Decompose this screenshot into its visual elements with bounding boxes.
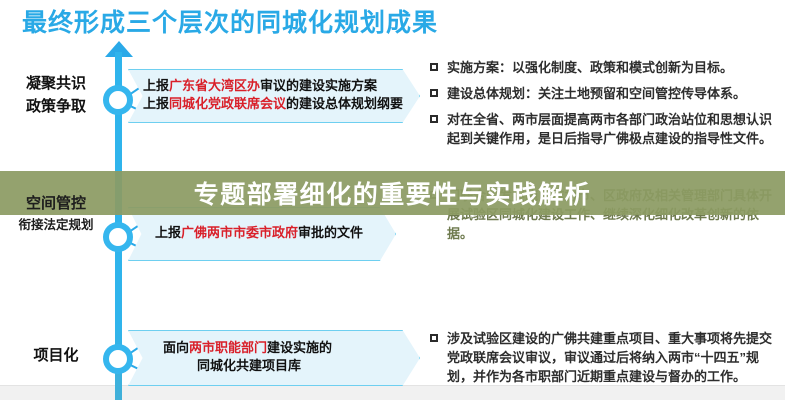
bullet-item: 对在全省、两市层面提高两市各部门政治站位和思想认识起到关键作用，是日后指导广佛极… (430, 110, 782, 148)
plain-phrase: 同城化共建项目库 (197, 358, 301, 373)
tier-3-content-box[interactable]: 面向两市职能部门建设实施的 同城化共建项目库 (128, 330, 420, 386)
highlighted-phrase: 两市职能部门 (189, 340, 267, 355)
bullet-text: 实施方案：以强化制度、政策和模式创新为目标。 (447, 58, 733, 77)
tier-1-box-line-1: 上报广东省大湾区办审议的建设实施方案 (143, 77, 419, 95)
plain-phrase: 上报 (143, 96, 169, 111)
square-bullet-icon (430, 115, 438, 123)
plain-phrase: 的建设总体规划纲要 (286, 96, 403, 111)
highlighted-phrase: 广东省大湾区办 (169, 78, 260, 93)
plain-phrase: 建设实施的 (267, 340, 332, 355)
slide-canvas: 最终形成三个层次的同城化规划成果 凝聚共识 政策争取 上报广东省大湾区办审议的建… (0, 0, 785, 400)
plain-phrase: 上报 (155, 225, 181, 240)
tier-3-box-line-1: 面向两市职能部门建设实施的 (163, 339, 419, 357)
highlighted-phrase: 同城化党政联席会议 (169, 96, 286, 111)
tier-2-content-box[interactable]: 上报广佛两市市委市政府审批的文件 (128, 207, 396, 261)
square-bullet-icon (430, 63, 438, 71)
plain-phrase: 面向 (163, 340, 189, 355)
overlay-banner-text: 专题部署细化的重要性与实践解析 (0, 171, 785, 215)
tier-label-1: 凝聚共识 政策争取 (0, 72, 112, 118)
tier-label-3: 项目化 (0, 344, 112, 367)
tier-3-box-line-2: 同城化共建项目库 (163, 357, 419, 375)
bullet-item: 涉及试验区建设的广佛共建重点项目、重大事项将先提交党政联席会议审议，审议通过后将… (430, 329, 782, 386)
plain-phrase: 审批的文件 (298, 225, 363, 240)
tier-1-content-box[interactable]: 上报广东省大湾区办审议的建设实施方案 上报同城化党政联席会议的建设总体规划纲要 (128, 69, 420, 123)
highlighted-phrase: 广佛两市市委市政府 (181, 225, 298, 240)
bullet-item: 建设总体规划：关注土地预留和空间管控传导体系。 (430, 84, 782, 103)
tier-label-1-secondary: 政策争取 (0, 95, 112, 118)
tier-label-2: 空间管控 衔接法定规划 (0, 192, 112, 235)
tier-label-2-primary: 空间管控 (0, 192, 112, 215)
bullet-text: 对在全省、两市层面提高两市各部门政治站位和思想认识起到关键作用，是日后指导广佛极… (447, 110, 782, 148)
tier-label-1-primary: 凝聚共识 (0, 72, 112, 95)
page-title: 最终形成三个层次的同城化规划成果 (22, 6, 422, 40)
tier-1-bullet-panel: 实施方案：以强化制度、政策和模式创新为目标。 建设总体规划：关注土地预留和空间管… (430, 58, 782, 155)
bullet-item: 实施方案：以强化制度、政策和模式创新为目标。 (430, 58, 782, 77)
bullet-text: 涉及试验区建设的广佛共建重点项目、重大事项将先提交党政联席会议审议，审议通过后将… (447, 329, 782, 386)
tier-2-box-line-1: 上报广佛两市市委市政府审批的文件 (155, 224, 395, 242)
tier-label-2-secondary: 衔接法定规划 (0, 215, 112, 235)
tier-3-bullet-panel: 涉及试验区建设的广佛共建重点项目、重大事项将先提交党政联席会议审议，审议通过后将… (430, 329, 782, 393)
square-bullet-icon (430, 334, 438, 342)
plain-phrase: 上报 (143, 78, 169, 93)
tier-1-box-line-2: 上报同城化党政联席会议的建设总体规划纲要 (143, 95, 419, 113)
square-bullet-icon (430, 89, 438, 97)
tier-label-3-primary: 项目化 (0, 344, 112, 367)
plain-phrase: 审议的建设实施方案 (260, 78, 377, 93)
bullet-text: 建设总体规划：关注土地预留和空间管控传导体系。 (447, 84, 746, 103)
